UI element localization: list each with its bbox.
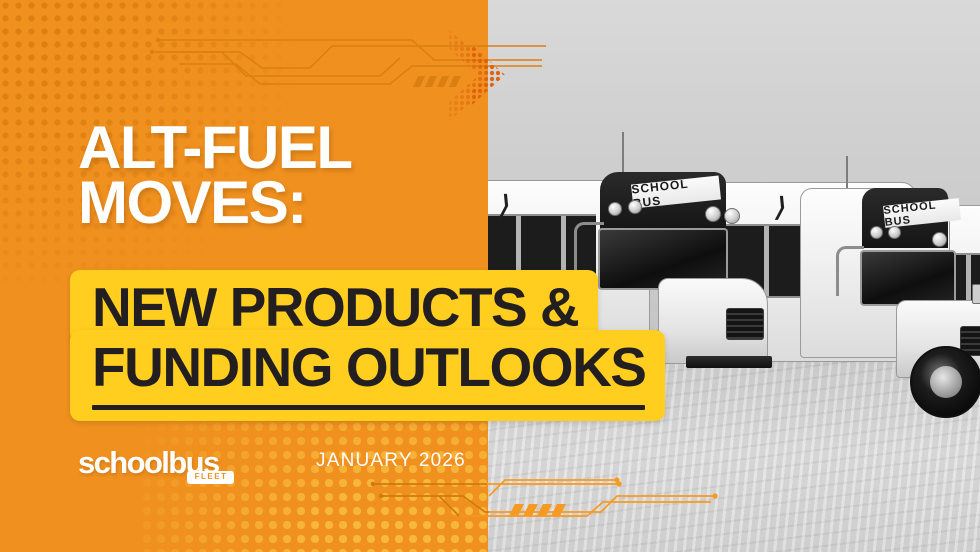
banner-line-2-label: FUNDING OUTLOOKS <box>92 336 645 398</box>
banner-underline <box>92 405 645 410</box>
banner-line-2-text: FUNDING OUTLOOKS <box>70 330 665 421</box>
schoolbus-fleet-logo[interactable]: schoolbus FLEET <box>78 447 234 478</box>
banner-line-2: FUNDING OUTLOOKS <box>70 330 665 421</box>
poster-cover: ⟩ SCHOOL BUS SCHOOL BUS <box>0 0 980 552</box>
page-title-primary: ALT-FUEL MOVES: <box>78 120 498 230</box>
halftone-chevron-arrow-icon <box>447 28 517 123</box>
issue-date: JANUARY 2026 <box>316 450 466 472</box>
logo-fleet-badge: FLEET <box>187 471 235 484</box>
bus-right: SCHOOL BUS <box>800 188 980 448</box>
bus-antenna <box>846 156 848 192</box>
